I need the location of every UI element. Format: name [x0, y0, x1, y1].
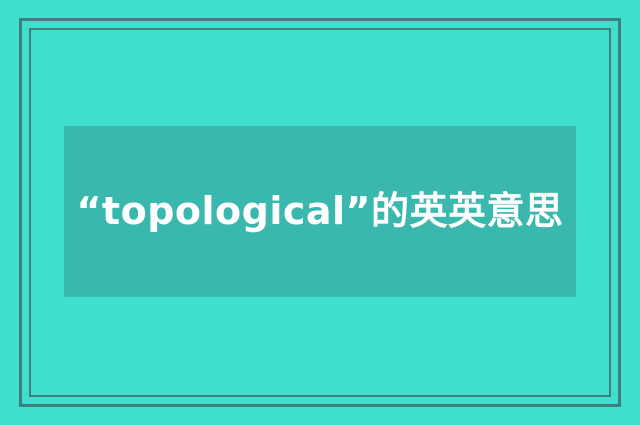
title-panel: “topological”的英英意思 [64, 126, 576, 297]
page-canvas: “topological”的英英意思 [0, 0, 640, 425]
page-title: “topological”的英英意思 [64, 182, 576, 241]
